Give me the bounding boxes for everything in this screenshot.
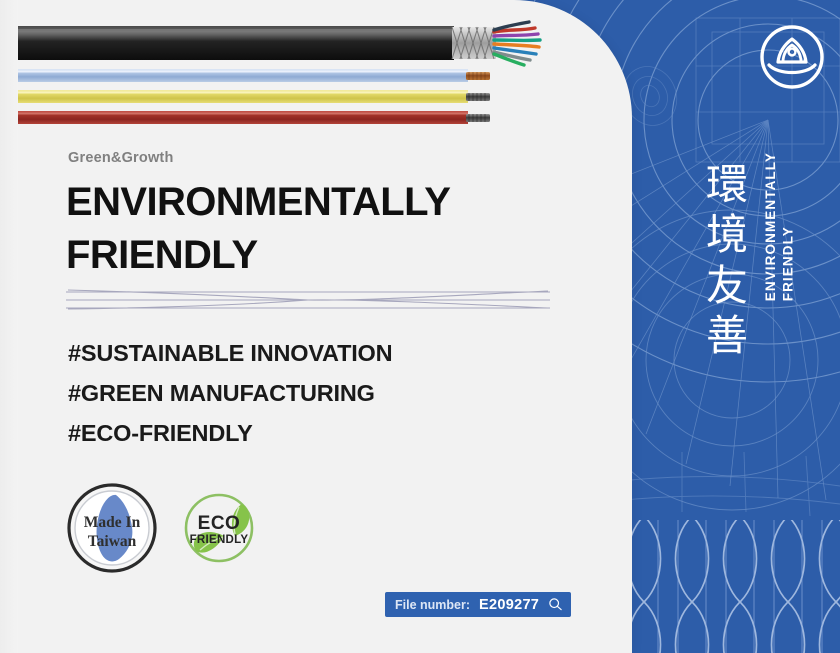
- chinese-char: 環: [700, 160, 756, 210]
- badge-text-line1: Made In: [84, 514, 141, 531]
- content-card: Green&Growth ENVIRONMENTALLY FRIENDLY #S…: [0, 0, 632, 653]
- chinese-char: 境: [700, 210, 756, 260]
- eco-friendly-badge-icon: ECO FRIENDLY: [179, 488, 259, 568]
- hashtag-item: #ECO-FRIENDLY: [68, 420, 392, 447]
- headline-line-2: FRIENDLY: [66, 229, 586, 282]
- file-number-value: E209277: [479, 597, 539, 613]
- headline-line-1: ENVIRONMENTALLY: [66, 176, 586, 229]
- english-vertical-title: ENVIRONMENTALLY FRIENDLY: [762, 152, 797, 301]
- made-in-taiwan-badge-icon: Made In Taiwan: [66, 482, 158, 574]
- file-number-label: File number:: [395, 598, 470, 612]
- cable-illustration: [0, 0, 632, 140]
- chinese-vertical-title: 環 境 友 善: [700, 160, 756, 362]
- chinese-char: 善: [700, 311, 756, 361]
- magnifier-icon[interactable]: [548, 597, 563, 612]
- company-logo-icon: [756, 21, 828, 93]
- eco-badge-line1: ECO: [198, 513, 241, 534]
- hashtag-item: #SUSTAINABLE INNOVATION: [68, 340, 392, 367]
- hashtag-list: #SUSTAINABLE INNOVATION #GREEN MANUFACTU…: [68, 340, 392, 460]
- page-title: ENVIRONMENTALLY FRIENDLY: [66, 176, 586, 282]
- file-number-chip[interactable]: File number: E209277: [385, 592, 571, 617]
- environmentally-friendly-poster: Green&Growth ENVIRONMENTALLY FRIENDLY #S…: [0, 0, 840, 653]
- eco-badge-line2: FRIENDLY: [190, 534, 249, 546]
- badge-text-line2: Taiwan: [88, 533, 137, 550]
- certification-badges: Made In Taiwan ECO FRIENDLY: [66, 482, 276, 574]
- eyebrow-label: Green&Growth: [68, 150, 174, 166]
- chinese-char: 友: [700, 261, 756, 311]
- crossing-lines-divider: [62, 278, 554, 316]
- hashtag-item: #GREEN MANUFACTURING: [68, 380, 392, 407]
